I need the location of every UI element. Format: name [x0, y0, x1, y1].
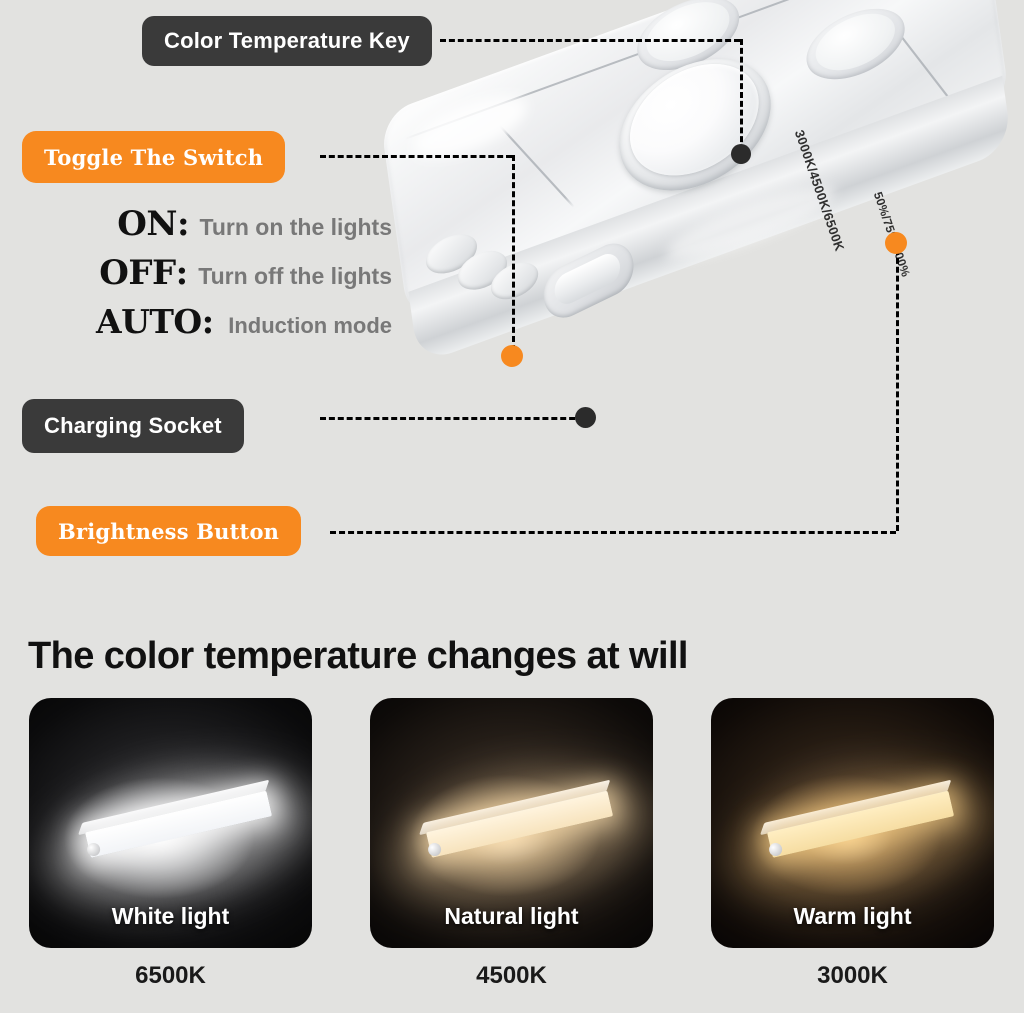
- connector-charging-socket-horizontal: [320, 417, 584, 420]
- marker-color-temperature-key: [731, 144, 751, 164]
- callout-toggle-the-switch[interactable]: Toggle The Switch: [22, 131, 285, 183]
- light-bar-natural: [411, 768, 620, 875]
- product-diagram-section: 3000K/4500K/6500K 50%/75%/100% Color Tem…: [0, 0, 1024, 600]
- section-title: The color temperature changes at will: [28, 635, 688, 678]
- mode-description: Turn off the lights: [198, 263, 392, 290]
- card-image-white[interactable]: White light: [29, 698, 312, 948]
- connector-color-temperature-horizontal: [440, 39, 740, 42]
- card-image-warm[interactable]: Warm light: [711, 698, 994, 948]
- connector-toggle-vertical: [512, 155, 515, 351]
- mode-row-auto: AUTO : Induction mode: [0, 302, 392, 342]
- card-image-natural[interactable]: Natural light: [370, 698, 653, 948]
- marker-charging-socket: [575, 407, 596, 428]
- marker-toggle-switch: [501, 345, 523, 367]
- mode-key: OFF: [99, 256, 175, 290]
- connector-brightness-horizontal: [330, 531, 896, 534]
- connector-toggle-horizontal: [320, 155, 512, 158]
- callout-charging-socket[interactable]: Charging Socket: [22, 399, 244, 453]
- mode-row-on: ON : Turn on the lights: [0, 204, 392, 244]
- card-label-warm: Warm light: [711, 903, 994, 930]
- mode-key: ON: [117, 207, 177, 241]
- card-label-white: White light: [29, 903, 312, 930]
- mode-key: AUTO: [96, 305, 202, 338]
- mode-description: Induction mode: [228, 313, 392, 339]
- mode-colon: :: [202, 302, 215, 342]
- marker-brightness-button: [885, 232, 907, 254]
- infographic-page: 3000K/4500K/6500K 50%/75%/100% Color Tem…: [0, 0, 1024, 1013]
- card-natural-light: Natural light 4500K: [341, 698, 682, 990]
- kelvin-value-white: 6500K: [135, 962, 206, 990]
- callout-color-temperature-key[interactable]: Color Temperature Key: [142, 16, 432, 66]
- light-mode-cards: White light 6500K Natural light: [0, 698, 1024, 990]
- device-illustration: [372, 0, 1024, 500]
- connector-brightness-vertical: [896, 240, 899, 531]
- callout-brightness-button[interactable]: Brightness Button: [36, 506, 301, 556]
- light-bar-warm: [752, 768, 961, 875]
- color-temperature-section: The color temperature changes at will Wh…: [0, 600, 1024, 1013]
- kelvin-value-warm: 3000K: [817, 962, 888, 990]
- card-white-light: White light 6500K: [0, 698, 341, 990]
- light-bar-white: [70, 768, 279, 875]
- mode-colon: :: [176, 253, 189, 293]
- mode-description: Turn on the lights: [200, 214, 393, 241]
- kelvin-value-natural: 4500K: [476, 962, 547, 990]
- switch-mode-list: ON : Turn on the lights OFF : Turn off t…: [0, 204, 392, 351]
- mode-colon: :: [177, 204, 190, 244]
- mode-row-off: OFF : Turn off the lights: [0, 253, 392, 293]
- card-warm-light: Warm light 3000K: [682, 698, 1023, 990]
- card-label-natural: Natural light: [370, 903, 653, 930]
- connector-color-temperature-vertical: [740, 39, 743, 151]
